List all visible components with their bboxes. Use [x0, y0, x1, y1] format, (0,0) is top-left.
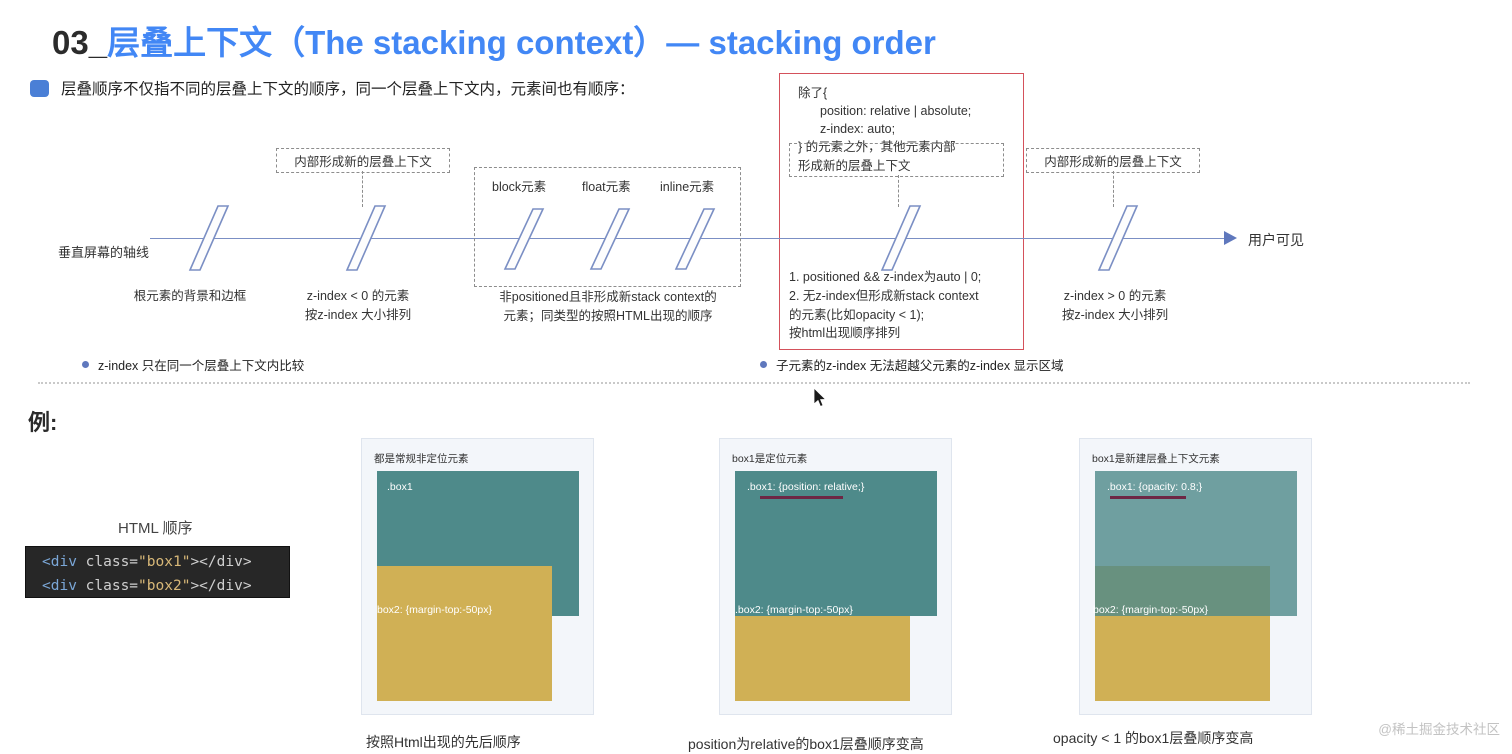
plane-block-element	[503, 207, 545, 275]
code-sample-block: <div class="box1"></div> <div class="box…	[25, 546, 290, 598]
code-line-1-attr: class=	[86, 554, 138, 570]
callout-new-context-left: 内部形成新的层叠上下文	[276, 148, 450, 173]
plane-root-caption-line-1: 根元素的背景和边框	[110, 287, 270, 306]
example-2-box1-label: .box1: {position: relative;}	[747, 481, 864, 493]
middle-group-caption-line-1: 非positioned且非形成新stack context的	[468, 288, 748, 307]
plane-zpos-caption-line-1: z-index > 0 的元素	[1030, 287, 1200, 306]
red-box-bottom-line-2: 2. 无z-index但形成新stack context	[789, 287, 1004, 306]
square-bullet-icon	[30, 80, 49, 97]
page-title-text: 层叠上下文（The stacking context）— stacking or…	[107, 24, 936, 61]
dot-bullet-icon	[82, 361, 89, 368]
red-box-line-1: 除了{	[798, 84, 1013, 102]
mouse-cursor-icon	[814, 388, 828, 408]
note-bullet-left: z-index 只在同一个层叠上下文内比较	[82, 355, 304, 374]
section-divider	[38, 382, 1470, 384]
code-line-2-close: ></div>	[190, 578, 251, 594]
middle-group-caption-line-2: 元素；同类型的按照HTML出现的顺序	[468, 307, 748, 326]
code-line-2-attr: class=	[86, 578, 138, 594]
plane-float-element	[589, 207, 631, 275]
example-panel-3: box1是新建层叠上下文元素 .box1: {opacity: 0.8;} bo…	[1079, 438, 1312, 715]
label-block-element: block元素	[492, 176, 546, 195]
plane-zpos-caption-line-2: 按z-index 大小排列	[1030, 306, 1200, 325]
note-bullet-left-text: z-index 只在同一个层叠上下文内比较	[98, 355, 304, 374]
code-line-2-value: "box2"	[138, 578, 190, 594]
example-1-box2	[377, 566, 552, 701]
callout-new-context-right: 内部形成新的层叠上下文	[1026, 148, 1200, 173]
axis-label-left: 垂直屏幕的轴线	[58, 242, 149, 261]
callout-connector-center	[898, 175, 899, 207]
axis-arrow-icon	[1224, 231, 1237, 245]
middle-group-caption: 非positioned且非形成新stack context的 元素；同类型的按照…	[468, 288, 748, 326]
code-sample-heading: HTML 顺序	[118, 517, 192, 538]
red-box-bottom-note: 1. positioned && z-index为auto | 0; 2. 无z…	[789, 268, 1004, 343]
example-3-underline	[1110, 496, 1186, 499]
callout-connector-right	[1113, 171, 1114, 207]
page-title: 03_层叠上下文（The stacking context）— stacking…	[52, 16, 936, 64]
plane-root-caption: 根元素的背景和边框	[110, 287, 270, 306]
slide-root: 03_层叠上下文（The stacking context）— stacking…	[0, 0, 1512, 752]
subtitle-text: 层叠顺序不仅指不同的层叠上下文的顺序，同一个层叠上下文内，元素间也有顺序：	[61, 77, 635, 99]
example-panel-2: box1是定位元素 .box1: {position: relative;} .…	[719, 438, 952, 715]
example-1-box2-label: box2: {margin-top:-50px}	[377, 604, 492, 616]
note-bullet-right: 子元素的z-index 无法超越父元素的z-index 显示区域	[760, 355, 1064, 374]
dot-bullet-icon	[760, 361, 767, 368]
callout-new-context-right-text: 内部形成新的层叠上下文	[1044, 151, 1182, 170]
plane-z-index-negative	[345, 204, 387, 272]
example-3-box1-label: .box1: {opacity: 0.8;}	[1107, 481, 1202, 493]
plane-positioned-element	[880, 204, 922, 272]
example-2-underline	[760, 496, 843, 499]
code-line-1-tag: <div	[42, 554, 77, 570]
axis-label-right: 用户可见	[1248, 230, 1304, 250]
callout-connector-left	[362, 171, 363, 207]
plane-zneg-caption: z-index < 0 的元素 按z-index 大小排列	[278, 287, 438, 325]
code-line-1-value: "box1"	[138, 554, 190, 570]
example-panel-3-title: box1是新建层叠上下文元素	[1092, 451, 1220, 466]
example-panel-3-caption: opacity < 1 的box1层叠顺序变高	[1053, 728, 1253, 748]
red-box-inner-dashed-region	[789, 143, 1004, 177]
subtitle-row: 层叠顺序不仅指不同的层叠上下文的顺序，同一个层叠上下文内，元素间也有顺序：	[30, 77, 635, 99]
page-title-number: 03_	[52, 24, 107, 61]
watermark: @稀土掘金技术社区	[1378, 718, 1500, 738]
plane-z-index-positive	[1097, 204, 1139, 272]
callout-new-context-left-text: 内部形成新的层叠上下文	[294, 151, 432, 170]
code-line-2: <div class="box2"></div>	[42, 574, 289, 598]
code-line-1-close: ></div>	[190, 554, 251, 570]
label-inline-element: inline元素	[660, 176, 714, 195]
code-line-1: <div class="box1"></div>	[42, 550, 289, 574]
example-2-box2-label: .box2: {margin-top:-50px}	[735, 604, 853, 616]
example-panel-2-caption: position为relative的box1层叠顺序变高	[688, 734, 924, 754]
example-panel-1-title: 都是常规非定位元素	[374, 451, 469, 466]
plane-zneg-caption-line-1: z-index < 0 的元素	[278, 287, 438, 306]
plane-zpos-caption: z-index > 0 的元素 按z-index 大小排列	[1030, 287, 1200, 325]
note-bullet-right-text: 子元素的z-index 无法超越父元素的z-index 显示区域	[776, 355, 1064, 374]
red-box-line-3: z-index: auto;	[798, 120, 1013, 138]
example-section-label: 例:	[28, 405, 57, 437]
example-3-box2-label: box2: {margin-top:-50px}	[1093, 604, 1208, 616]
red-box-bottom-line-3: 的元素(比如opacity < 1);	[789, 306, 1004, 325]
example-1-box1-label: .box1	[387, 481, 413, 493]
red-box-line-2: position: relative | absolute;	[798, 102, 1013, 120]
red-box-bottom-line-4: 按html出现顺序排列	[789, 324, 1004, 343]
example-panel-1: 都是常规非定位元素 .box1 box2: {margin-top:-50px}	[361, 438, 594, 715]
plane-inline-element	[674, 207, 716, 275]
code-line-2-tag: <div	[42, 578, 77, 594]
plane-zneg-caption-line-2: 按z-index 大小排列	[278, 306, 438, 325]
label-float-element: float元素	[582, 176, 631, 195]
example-panel-1-caption: 按照Html出现的先后顺序	[366, 732, 521, 752]
plane-root-element	[188, 204, 230, 272]
example-panel-2-title: box1是定位元素	[732, 451, 807, 466]
